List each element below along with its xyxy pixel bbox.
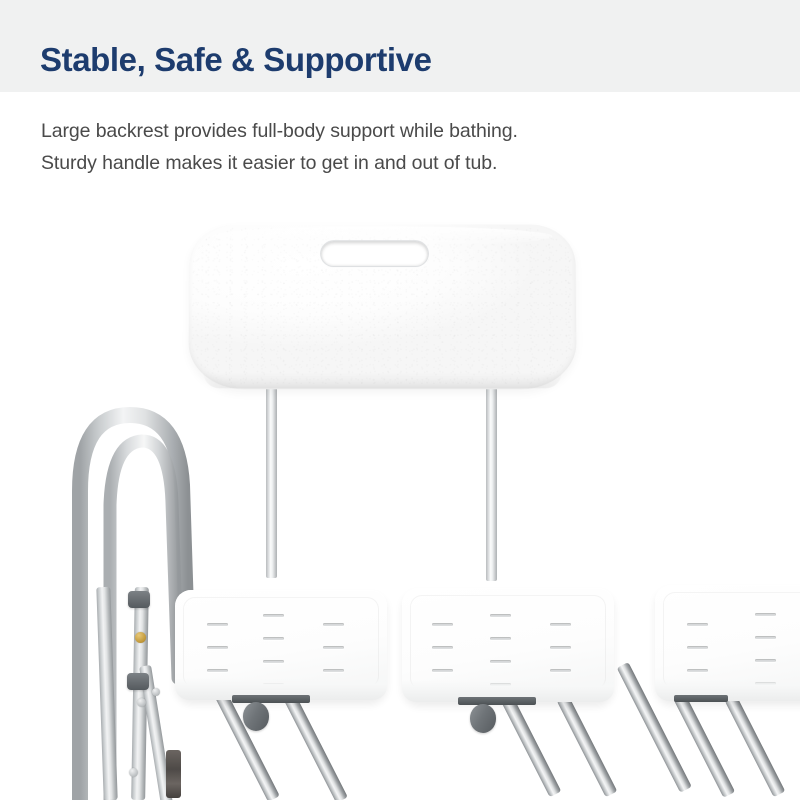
product-photo [0,195,800,800]
description-line-2: Sturdy handle makes it easier to get in … [41,147,741,179]
seat-bracket-3 [674,695,728,702]
handle-slot [320,240,429,267]
chrome-leg-7 [725,695,786,797]
description-line-1: Large backrest provides full-body suppor… [41,115,741,147]
chrome-leg-3 [501,695,562,797]
chrome-leg-2 [283,692,348,800]
description-text: Large backrest provides full-body suppor… [41,115,741,179]
seat-panel-2-inset [410,595,606,690]
seat-panel-3-inset [663,592,800,689]
handrail-collar-lower [127,673,149,690]
brass-adjust-knob [135,632,146,643]
seat-panel-1-inset [183,597,379,688]
seat-panel-3 [655,585,800,701]
seat-peg-1 [243,702,269,731]
frame-screw-mid [137,698,146,707]
seat-panel-2 [402,588,614,702]
backrest-panel [188,224,577,389]
seat-peg-2 [470,704,496,733]
frame-pad-strip [166,750,181,798]
seat-bracket-1 [232,695,310,703]
frame-screw-top [152,688,160,696]
page-title: Stable, Safe & Supportive [40,41,432,79]
handrail-collar-upper [128,591,150,608]
frame-screw-lower [129,768,138,777]
backrest-shadow [204,372,562,388]
seat-panel-1 [175,590,387,700]
header-band: Stable, Safe & Supportive [0,0,800,92]
chrome-leg-4 [557,695,618,797]
marketing-image: Stable, Safe & Supportive Large backrest… [0,0,800,800]
support-post-left [266,381,277,578]
support-post-right [486,381,497,581]
seat-bracket-2 [458,697,536,705]
